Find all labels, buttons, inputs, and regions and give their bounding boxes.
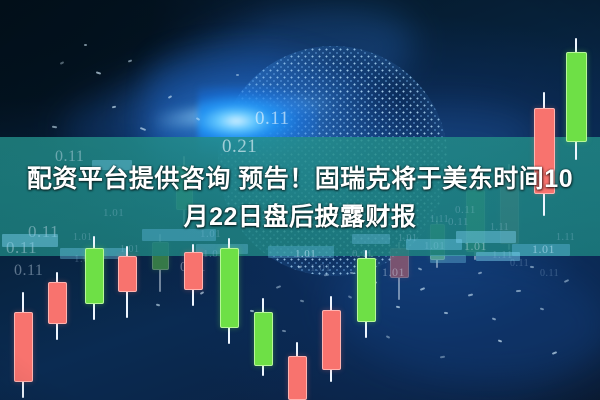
news-banner-image: 0.110.210.111.010.111.010.111.010.111.01… [0, 0, 600, 400]
vignette [0, 0, 600, 400]
